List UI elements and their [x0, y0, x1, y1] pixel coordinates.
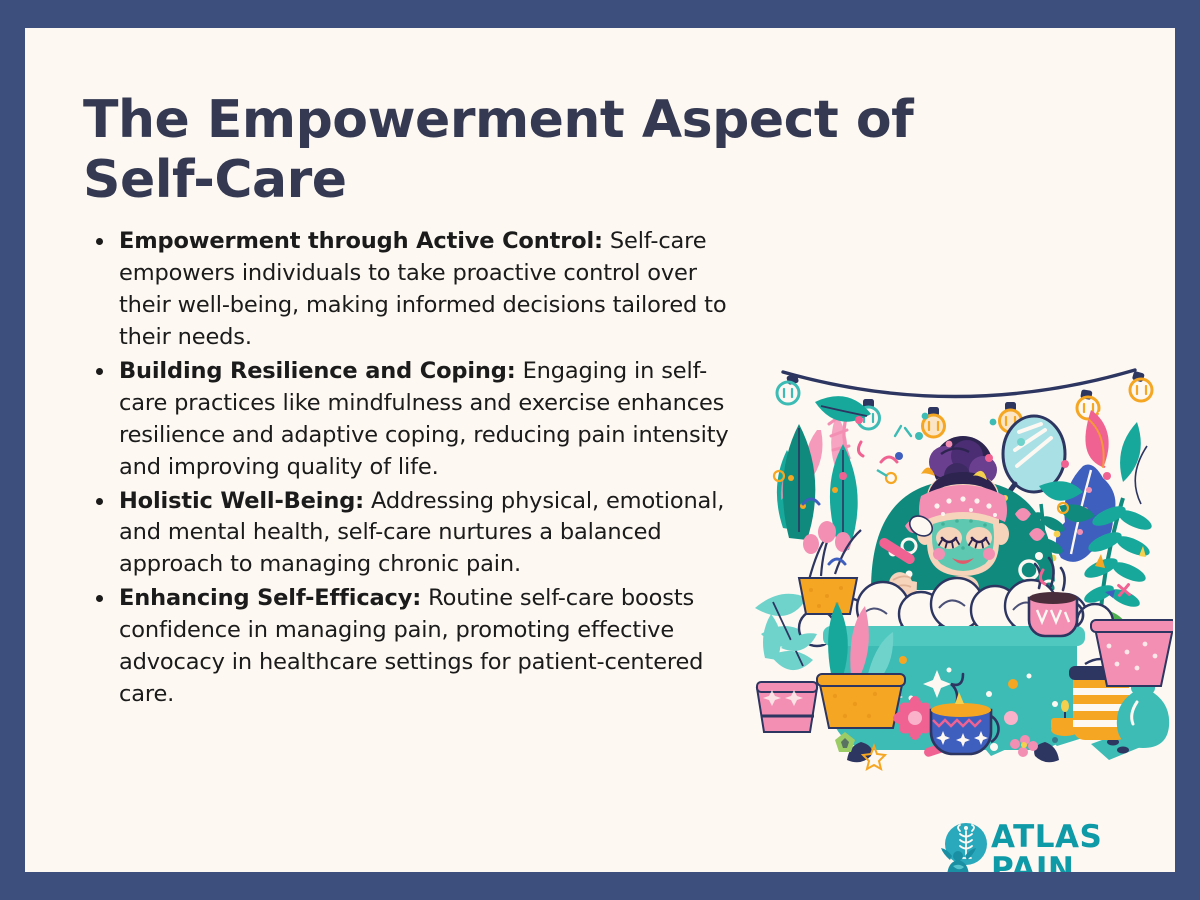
list-item: Enhancing Self-Efficacy: Routine self-ca…: [83, 583, 743, 711]
atlas-caduceus-icon: [933, 820, 995, 872]
list-item: Holistic Well-Being: Addressing physical…: [83, 486, 743, 582]
list-item-lead: Building Resilience and Coping:: [119, 358, 516, 384]
list-item: Empowerment through Active Control: Self…: [83, 226, 743, 354]
bullet-dot-icon: [96, 498, 103, 505]
bullet-dot-icon: [96, 368, 103, 375]
self-care-bath-scene-illustration: [743, 358, 1173, 778]
poster-frame: The Empowerment Aspect of Self-Care Empo…: [0, 0, 1200, 900]
page-title: The Empowerment Aspect of Self-Care: [83, 91, 1043, 211]
logo-wordmark: ATLAS PAIN SPECIALISTS: [991, 822, 1169, 872]
bullet-dot-icon: [96, 595, 103, 602]
list-item: Building Resilience and Coping: Engaging…: [83, 356, 743, 484]
list-item-lead: Empowerment through Active Control:: [119, 228, 603, 254]
logo-primary-text: ATLAS PAIN: [991, 822, 1169, 872]
bullet-dot-icon: [96, 238, 103, 245]
key-points-list: Empowerment through Active Control: Self…: [83, 226, 743, 713]
poster-canvas: The Empowerment Aspect of Self-Care Empo…: [25, 28, 1175, 872]
atlas-pain-specialists-logo: ATLAS PAIN SPECIALISTS: [933, 818, 1165, 872]
list-item-lead: Holistic Well-Being:: [119, 488, 364, 514]
list-item-lead: Enhancing Self-Efficacy:: [119, 585, 421, 611]
